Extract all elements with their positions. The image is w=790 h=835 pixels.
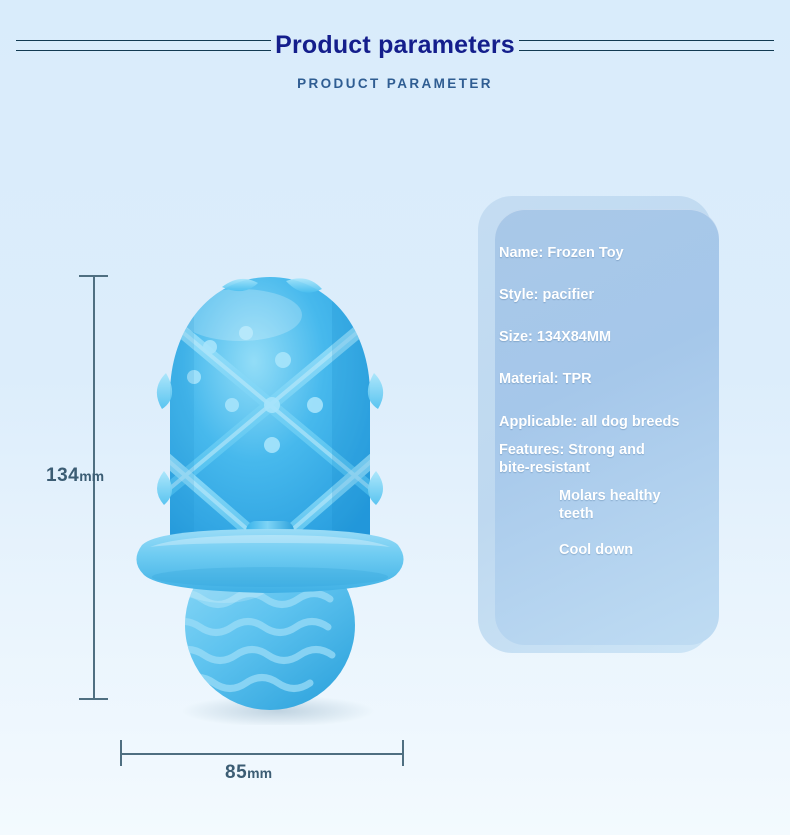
height-value: 134 xyxy=(46,465,79,486)
height-dimension-label: 134mm xyxy=(46,466,104,485)
header-rule-left xyxy=(16,36,271,54)
param-features: Features: Strong and bite-resistant xyxy=(499,441,719,477)
width-value: 85 xyxy=(225,762,247,783)
width-dimension-label: 85mm xyxy=(225,763,272,782)
param-material: Material: TPR xyxy=(499,370,719,388)
toy-flange xyxy=(136,529,403,593)
header-rule-left-line-1 xyxy=(16,40,271,41)
header-rule-left-line-2 xyxy=(16,50,271,51)
param-style: Style: pacifier xyxy=(499,286,719,304)
param-feature-cooldown: Cool down xyxy=(499,541,719,559)
header-rule-right-line-2 xyxy=(519,50,774,51)
height-unit: mm xyxy=(79,468,104,484)
header-rule-right-line-1 xyxy=(519,40,774,41)
param-size: Size: 134X84MM xyxy=(499,328,719,346)
page-header: Product parameters PRODUCT PARAMETER xyxy=(0,0,790,110)
page-title: Product parameters xyxy=(271,33,519,58)
width-guide-cap-right xyxy=(402,740,404,766)
title-row: Product parameters xyxy=(0,28,790,62)
height-guide-line xyxy=(93,276,95,699)
product-image xyxy=(120,265,420,725)
height-guide-cap-bottom xyxy=(79,698,108,700)
header-rule-right xyxy=(519,36,774,54)
page-subtitle: PRODUCT PARAMETER xyxy=(0,76,790,91)
width-guide-line xyxy=(121,753,403,755)
width-unit: mm xyxy=(247,765,272,781)
param-applicable: Applicable: all dog breeds xyxy=(499,413,719,431)
param-feature-molars: Molars healthy teeth xyxy=(499,487,719,523)
product-parameter-list: Name: Frozen Toy Style: pacifier Size: 1… xyxy=(499,244,719,559)
param-name: Name: Frozen Toy xyxy=(499,244,719,262)
